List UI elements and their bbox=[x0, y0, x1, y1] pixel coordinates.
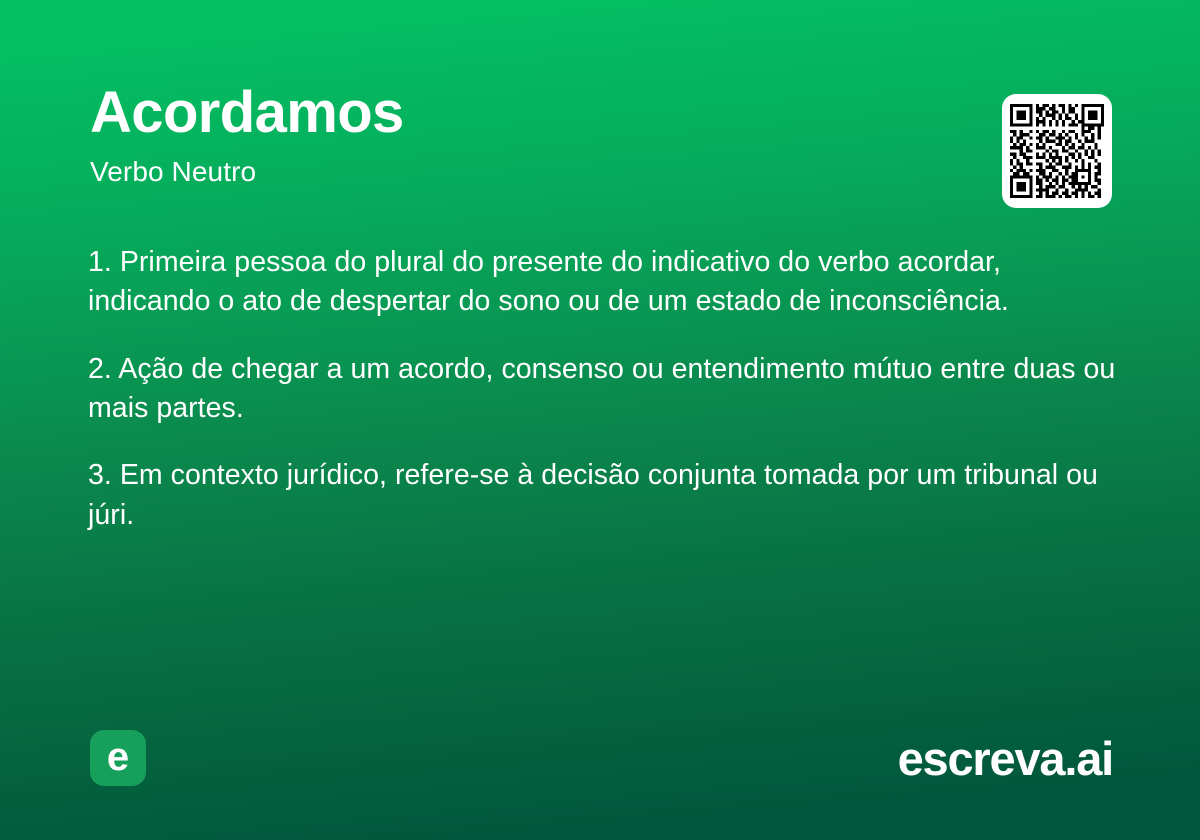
dictionary-card: Acordamos Verbo Neutro bbox=[0, 0, 1200, 840]
definition-item: 2. Ação de chegar a um acordo, consenso … bbox=[88, 350, 1118, 429]
definition-item: 1. Primeira pessoa do plural do presente… bbox=[88, 243, 1118, 322]
card-header: Acordamos Verbo Neutro bbox=[90, 82, 1110, 188]
brand-wordmark: escreva.ai bbox=[898, 735, 1113, 782]
qr-code[interactable] bbox=[1002, 94, 1112, 208]
definition-list: 1. Primeira pessoa do plural do presente… bbox=[88, 243, 1118, 535]
definition-item: 3. Em contexto jurídico, refere-se à dec… bbox=[88, 456, 1118, 535]
qr-code-icon bbox=[1010, 104, 1104, 198]
escreva-logo-icon: e bbox=[90, 730, 146, 786]
word-class-label: Verbo Neutro bbox=[90, 155, 1110, 189]
page-title: Acordamos bbox=[90, 82, 1110, 145]
card-footer: e escreva.ai bbox=[90, 728, 1113, 788]
